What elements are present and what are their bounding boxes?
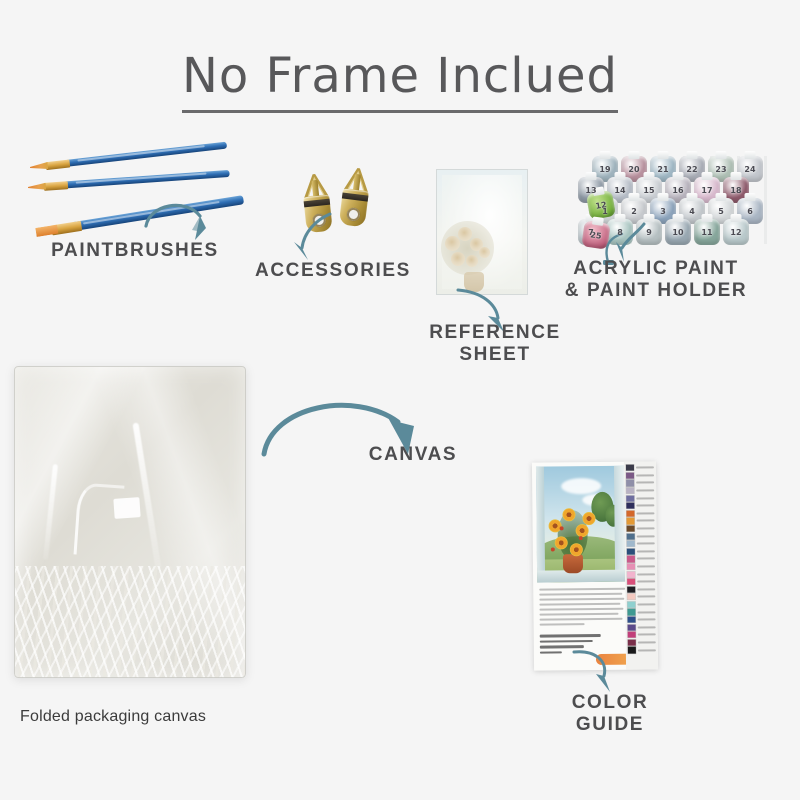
swatch-row [627, 571, 655, 578]
paintbrush-round-1 [30, 142, 228, 171]
pot-cap [658, 151, 669, 159]
swatch-chip [627, 564, 635, 570]
swatch-row [626, 464, 654, 471]
swatch-chip [626, 495, 634, 501]
swatch-chip [626, 518, 634, 524]
swatch-chip [626, 510, 634, 516]
swatch-caption [638, 641, 656, 643]
label-accessories: ACCESSORIES [238, 260, 428, 282]
swatch-row [628, 631, 656, 638]
label-folded-canvas: Folded packaging canvas [20, 708, 300, 727]
swatch-row [628, 624, 656, 631]
brush-handle [73, 195, 244, 231]
swatch-chip [628, 647, 636, 653]
pot-number: 2 [631, 207, 637, 216]
swatch-caption [638, 634, 656, 636]
window-frame-left [536, 467, 545, 583]
swatch-chip [627, 609, 635, 615]
pot-cap [702, 172, 713, 180]
label-acrylic-paint: ACRYLIC PAINT & PAINT HOLDER [548, 258, 764, 303]
pot-number: 22 [686, 165, 697, 174]
swatch-caption [636, 512, 654, 514]
swatch-caption [637, 543, 655, 545]
swatch-chip [626, 465, 634, 471]
swatch-caption [637, 550, 655, 552]
swatch-caption [637, 535, 655, 537]
bloom [445, 236, 460, 251]
label-canvas: CANVAS [338, 444, 488, 466]
swatch-row [626, 495, 654, 502]
swatch-chip [627, 579, 635, 585]
flower-vase [563, 554, 583, 573]
pot-number: 19 [599, 165, 610, 174]
swatch-caption [638, 619, 656, 621]
pot-number: 9 [646, 228, 652, 237]
reference-sheet-vase [464, 272, 484, 292]
color-guide-artwork [536, 466, 625, 583]
paintbrushes-illustration [26, 158, 276, 242]
pot-number: 23 [715, 165, 726, 174]
pot-cap [673, 214, 684, 222]
pot-cap [745, 193, 756, 201]
swatch-row [627, 555, 655, 562]
pot-cap [716, 193, 727, 201]
pot-number: 24 [744, 165, 755, 174]
swatch-row [628, 647, 656, 654]
label-reference-sheet: REFERENCE SHEET [405, 322, 585, 367]
color-guide-credit [540, 634, 606, 657]
swatch-chip [627, 594, 635, 600]
pot-number: 18 [730, 186, 741, 195]
swatch-caption [636, 505, 654, 507]
pot-cap [600, 151, 611, 159]
pot-number: 14 [614, 186, 625, 195]
brush-handle [66, 170, 230, 188]
swatch-row [627, 525, 655, 532]
swatch-chip [627, 526, 635, 532]
pot-cap [629, 151, 640, 159]
swatch-caption [637, 588, 655, 590]
label-paintbrushes: PAINTBRUSHES [20, 240, 250, 262]
swatch-row [628, 616, 656, 623]
swatch-row [627, 601, 655, 608]
swatch-caption [636, 489, 654, 491]
swatch-chip [627, 601, 635, 607]
swatch-chip [626, 472, 634, 478]
swatch-row [626, 518, 654, 525]
cloud [561, 478, 601, 494]
pot-number: 7 [588, 228, 594, 237]
paintbrush-flat-3 [35, 195, 246, 237]
swatch-row [628, 639, 656, 646]
pot-cap [687, 151, 698, 159]
pot-number: 11 [701, 228, 712, 237]
swatch-caption [637, 520, 655, 522]
pot-cap [615, 172, 626, 180]
folded-canvas-package [14, 366, 246, 678]
d-ring-hanger-1 [297, 172, 337, 235]
swatch-row [627, 593, 655, 600]
bloom [458, 227, 472, 241]
sunflower [554, 536, 567, 549]
swatch-row [627, 609, 655, 616]
package-edge [14, 366, 246, 678]
pot-cap [731, 214, 742, 222]
paintbrush-round-2 [28, 170, 230, 191]
pot-number: 16 [672, 186, 683, 195]
swatch-caption [637, 573, 655, 575]
swatch-row [627, 578, 655, 585]
color-guide-instructions [539, 588, 625, 629]
swatch-row [626, 502, 654, 509]
reference-sheet-illustration [437, 170, 527, 294]
swatch-chip [628, 639, 636, 645]
swatch-caption [637, 565, 655, 567]
paint-pot-11: 11 [694, 219, 720, 245]
pot-cap [673, 172, 684, 180]
pot-cap [702, 214, 713, 222]
pot-cap [731, 172, 742, 180]
swatch-chip [628, 617, 636, 623]
swatch-chip [627, 533, 635, 539]
pot-cap [644, 172, 655, 180]
pot-cap [592, 216, 604, 225]
pot-number: 6 [747, 207, 753, 216]
page-title-wrap: No Frame Inclued [0, 48, 800, 113]
pot-number: 20 [628, 165, 639, 174]
pot-cap [644, 214, 655, 222]
bud [579, 536, 583, 540]
paint-pot-loose-25: 25 [581, 220, 610, 249]
swatch-caption [638, 649, 656, 651]
pot-number: 15 [643, 186, 654, 195]
swatch-caption [637, 558, 655, 560]
swatch-row [626, 510, 654, 517]
swatch-chip [627, 571, 635, 577]
swatch-caption [638, 626, 656, 628]
swatch-chip [628, 624, 636, 630]
brush-handle [67, 142, 227, 167]
pot-number: 5 [718, 207, 724, 216]
swatch-row [626, 480, 654, 487]
page-title: No Frame Inclued [182, 48, 618, 113]
paint-pot-9: 9 [636, 219, 662, 245]
swatch-row [627, 533, 655, 540]
swatch-caption [637, 581, 655, 583]
swatch-caption [636, 474, 654, 476]
swatch-chip [626, 480, 634, 486]
pot-cap [716, 151, 727, 159]
swatch-chip [627, 541, 635, 547]
swatch-caption [636, 497, 654, 499]
bloom [451, 252, 465, 266]
swatch-row [627, 540, 655, 547]
swatch-caption [636, 482, 654, 484]
pot-number: 12 [730, 228, 741, 237]
d-ring-hanger-2 [334, 166, 375, 230]
pot-number: 1 [602, 207, 608, 216]
swatch-row [627, 586, 655, 593]
swatch-chip [626, 488, 634, 494]
pot-number: 8 [617, 228, 623, 237]
sunflower [575, 524, 588, 537]
swatch-chip [627, 556, 635, 562]
pot-number: 21 [657, 165, 668, 174]
swatch-caption [637, 596, 655, 598]
swatch-chip [627, 586, 635, 592]
brush-bristles [35, 225, 58, 237]
swatch-chip [626, 503, 634, 509]
infographic-stage: No Frame Inclued PAINTBRUSHES [0, 0, 800, 800]
paint-pot-10: 10 [665, 219, 691, 245]
pot-cap [745, 151, 756, 159]
swatch-caption [637, 527, 655, 529]
swatch-row [626, 487, 654, 494]
pot-number: 3 [660, 207, 666, 216]
pot-cap [658, 193, 669, 201]
brush-ferrule [45, 159, 70, 170]
swatch-caption [637, 603, 655, 605]
swatch-row [626, 472, 654, 479]
swatch-caption [637, 611, 655, 613]
brush-ferrule [44, 181, 68, 191]
color-guide-card [532, 461, 658, 670]
swatch-caption [636, 467, 654, 469]
pot-number: 17 [701, 186, 712, 195]
window-sill [537, 570, 625, 583]
swatch-row [627, 563, 655, 570]
pot-number: 10 [672, 228, 683, 237]
bloom [466, 255, 478, 267]
pot-cap [586, 172, 597, 180]
swatch-chip [628, 632, 636, 638]
pot-cap [629, 193, 640, 201]
paint-pot-8: 8 [607, 219, 633, 245]
paint-pot-12: 12 [723, 219, 749, 245]
pot-number: 4 [689, 207, 695, 216]
label-color-guide: COLOR GUIDE [518, 692, 702, 737]
pot-cap [687, 193, 698, 201]
pot-number: 13 [585, 186, 596, 195]
color-guide-swatch-strip [624, 461, 658, 669]
swatch-row [627, 548, 655, 555]
swatch-chip [627, 548, 635, 554]
sunflower [570, 543, 583, 556]
